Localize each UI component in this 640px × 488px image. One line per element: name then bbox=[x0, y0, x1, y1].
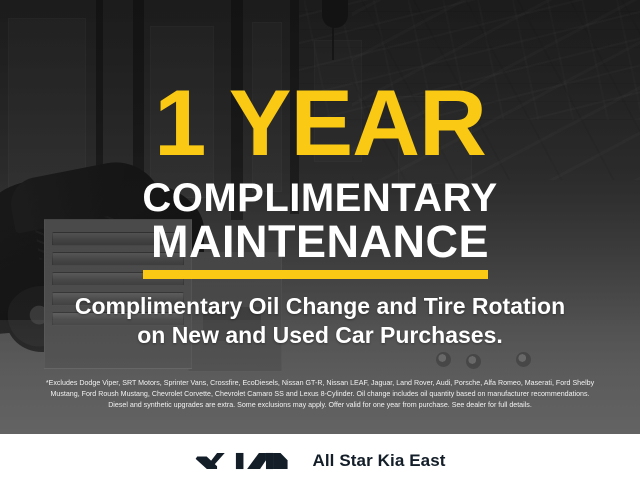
dealer-name: All Star Kia East bbox=[312, 451, 445, 471]
legal-disclaimer: *Excludes Dodge Viper, SRT Motors, Sprin… bbox=[14, 378, 626, 410]
accent-divider-bar bbox=[143, 270, 488, 279]
footer-brand-bar: All Star Kia East bbox=[0, 434, 640, 488]
headline-duration: 1 YEAR bbox=[0, 76, 640, 170]
headline-maintenance: MAINTENANCE bbox=[0, 218, 640, 266]
banner-content: 1 YEAR COMPLIMENTARY MAINTENANCE Complim… bbox=[0, 0, 640, 434]
kia-logo bbox=[194, 450, 290, 472]
disclaimer-line2: Mustang, Ford Roush Mustang, Chevrolet C… bbox=[14, 389, 626, 400]
disclaimer-line3: Diesel and synthetic upgrades are extra.… bbox=[14, 400, 626, 411]
headline-complimentary: COMPLIMENTARY bbox=[0, 176, 640, 220]
offer-description: Complimentary Oil Change and Tire Rotati… bbox=[18, 292, 622, 350]
offer-description-line1: Complimentary Oil Change and Tire Rotati… bbox=[18, 292, 622, 321]
promotional-banner: 1 YEAR COMPLIMENTARY MAINTENANCE Complim… bbox=[0, 0, 640, 488]
offer-description-line2: on New and Used Car Purchases. bbox=[18, 321, 622, 350]
disclaimer-line1: *Excludes Dodge Viper, SRT Motors, Sprin… bbox=[14, 378, 626, 389]
